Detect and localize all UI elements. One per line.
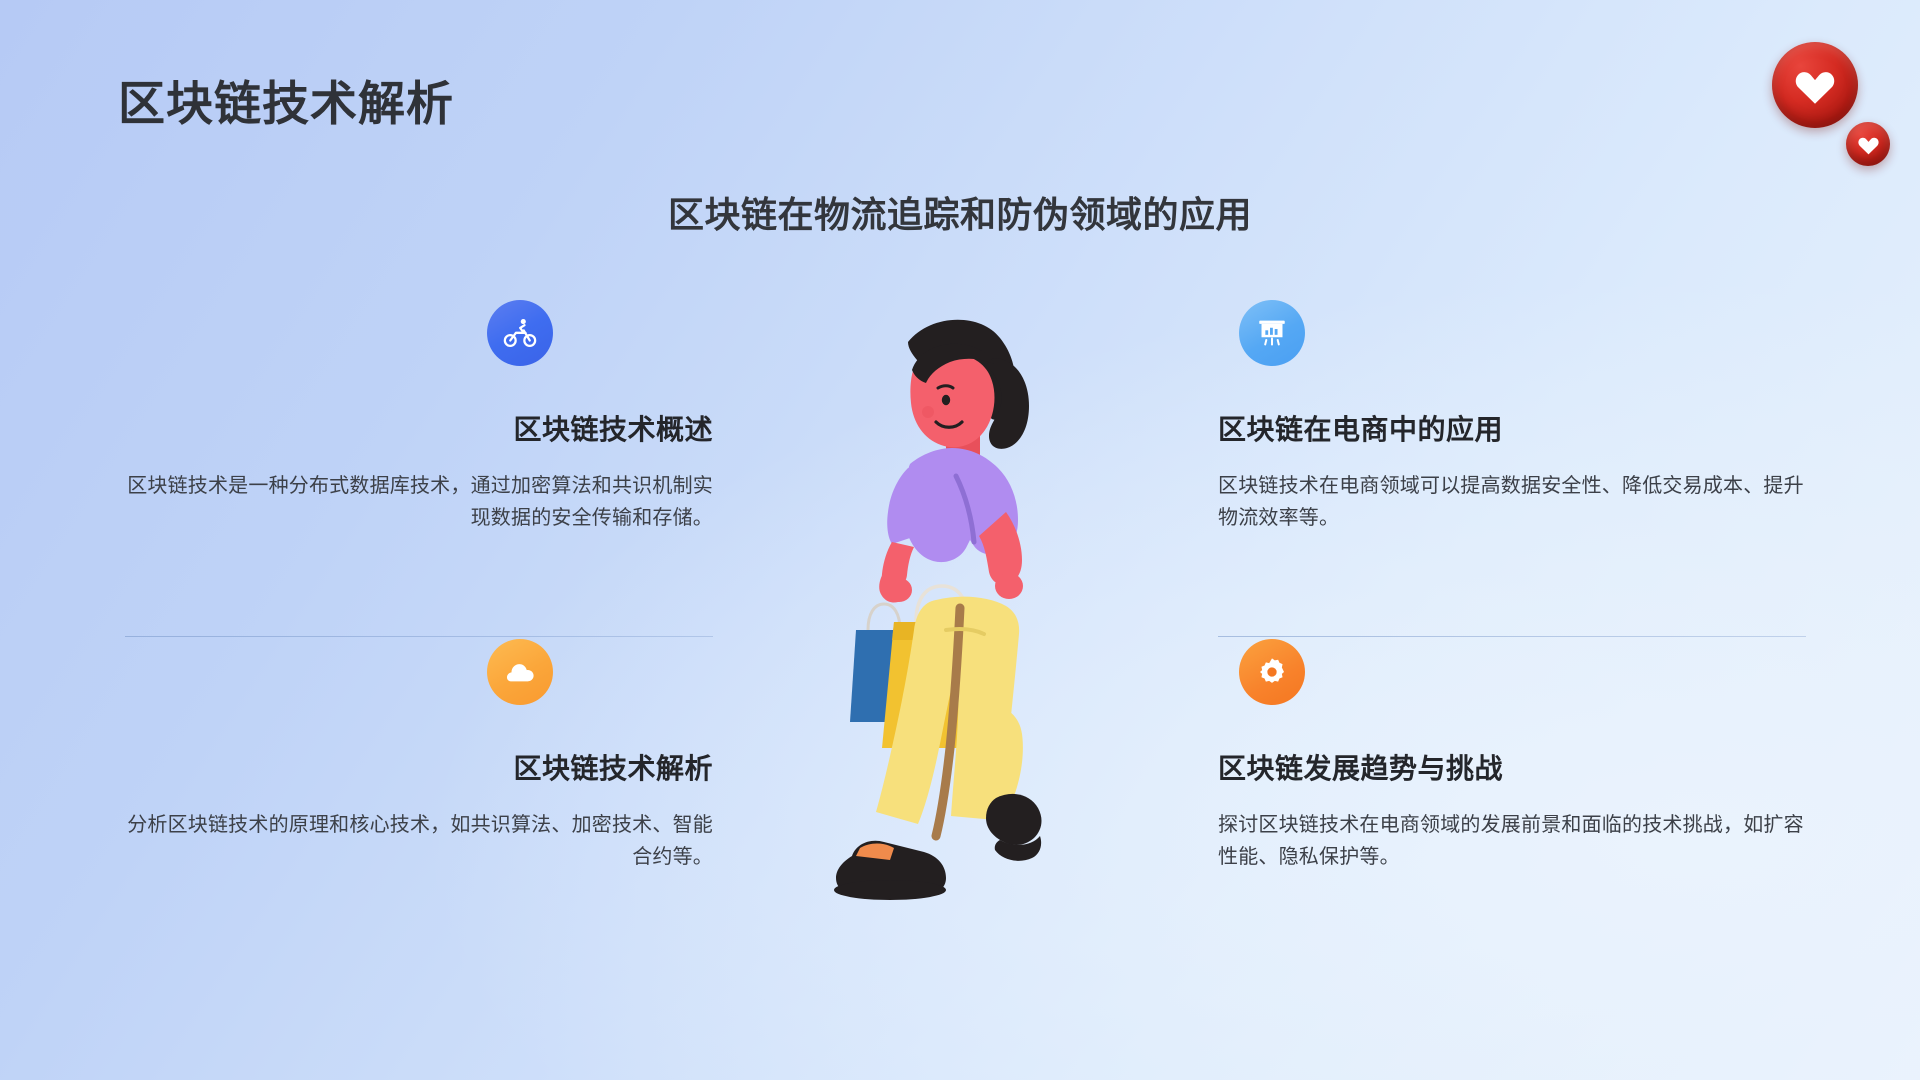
card-body: 分析区块链技术的原理和核心技术，如共识算法、加密技术、智能合约等。 — [125, 809, 713, 874]
heart-icon — [1857, 134, 1880, 155]
card-trends-challenges[interactable]: 区块链发展趋势与挑战 探讨区块链技术在电商领域的发展前景和面临的技术挑战，如扩容… — [1218, 639, 1806, 874]
cloud-icon — [487, 639, 553, 705]
card-title: 区块链技术解析 — [125, 747, 713, 787]
heart-badge-large — [1772, 42, 1858, 128]
left-column: 区块链技术概述 区块链技术是一种分布式数据库技术，通过加密算法和共识机制实现数据… — [125, 300, 713, 874]
card-ecommerce-application[interactable]: 区块链在电商中的应用 区块链技术在电商领域可以提高数据安全性、降低交易成本、提升… — [1218, 300, 1806, 535]
card-title: 区块链技术概述 — [125, 408, 713, 448]
bicycle-icon — [487, 300, 553, 366]
card-blockchain-overview[interactable]: 区块链技术概述 区块链技术是一种分布式数据库技术，通过加密算法和共识机制实现数据… — [125, 300, 713, 535]
page-title: 区块链技术解析 — [118, 78, 454, 130]
card-body: 区块链技术是一种分布式数据库技术，通过加密算法和共识机制实现数据的安全传输和存储… — [125, 470, 713, 535]
card-blockchain-analysis[interactable]: 区块链技术解析 分析区块链技术的原理和核心技术，如共识算法、加密技术、智能合约等… — [125, 639, 713, 874]
right-column: 区块链在电商中的应用 区块链技术在电商领域可以提高数据安全性、降低交易成本、提升… — [1218, 300, 1806, 874]
woman-with-shopping-bags-illustration — [760, 300, 1180, 940]
heart-icon — [1793, 65, 1837, 105]
slide-canvas: 区块链技术解析 区块链在物流追踪和防伪领域的应用 区块链技术概述 区块链技术是一… — [0, 0, 1920, 1080]
page-subtitle: 区块链在物流追踪和防伪领域的应用 — [0, 186, 1920, 238]
heart-badge-small — [1846, 122, 1890, 166]
card-body: 区块链技术在电商领域可以提高数据安全性、降低交易成本、提升物流效率等。 — [1218, 470, 1806, 535]
presentation-chart-icon — [1239, 300, 1305, 366]
card-body: 探讨区块链技术在电商领域的发展前景和面临的技术挑战，如扩容性能、隐私保护等。 — [1218, 809, 1806, 874]
card-title: 区块链发展趋势与挑战 — [1218, 747, 1806, 787]
card-title: 区块链在电商中的应用 — [1218, 408, 1806, 448]
gear-icon — [1239, 639, 1305, 705]
